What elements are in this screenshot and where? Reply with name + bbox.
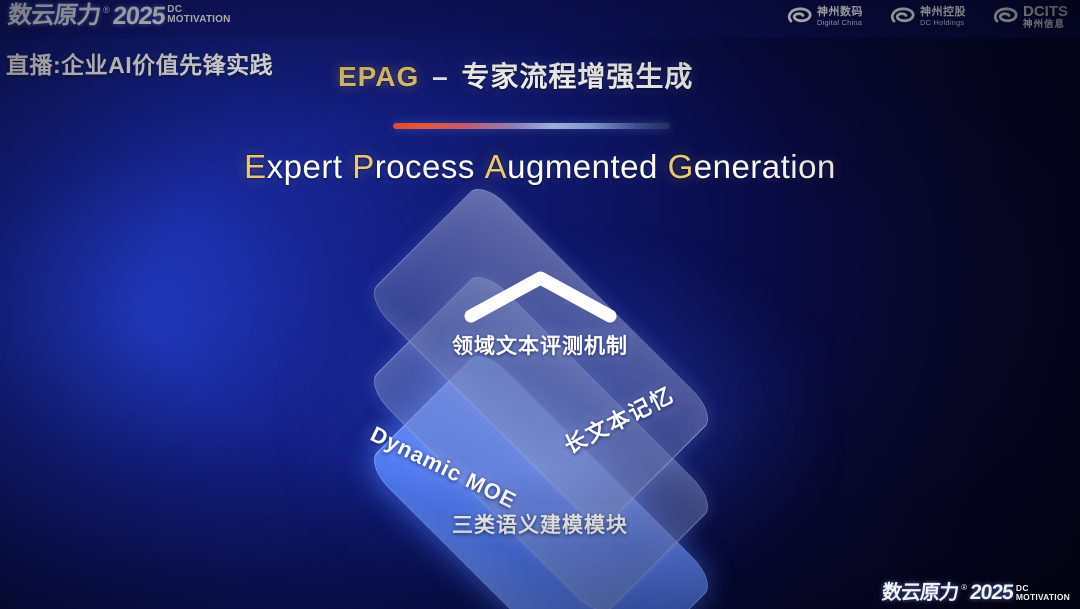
footer-brand-dc-motivation: DC MOTIVATION bbox=[1016, 581, 1070, 601]
footer-brand-watermark: 数云原力 ® 2025 DC MOTIVATION bbox=[882, 581, 1070, 605]
footer-brand-name-cn: 数云原力 bbox=[881, 581, 960, 605]
footer-brand-registered-mark: ® bbox=[961, 581, 967, 593]
footer-brand-dc-line2: MOTIVATION bbox=[1016, 593, 1070, 602]
slide-canvas: 数云原力 ® 2025 DC MOTIVATION 直播:企业AI价值先锋实践 … bbox=[0, 0, 1080, 609]
footer-brand-year: 2025 bbox=[969, 581, 1014, 605]
vignette-overlay bbox=[0, 0, 1080, 609]
